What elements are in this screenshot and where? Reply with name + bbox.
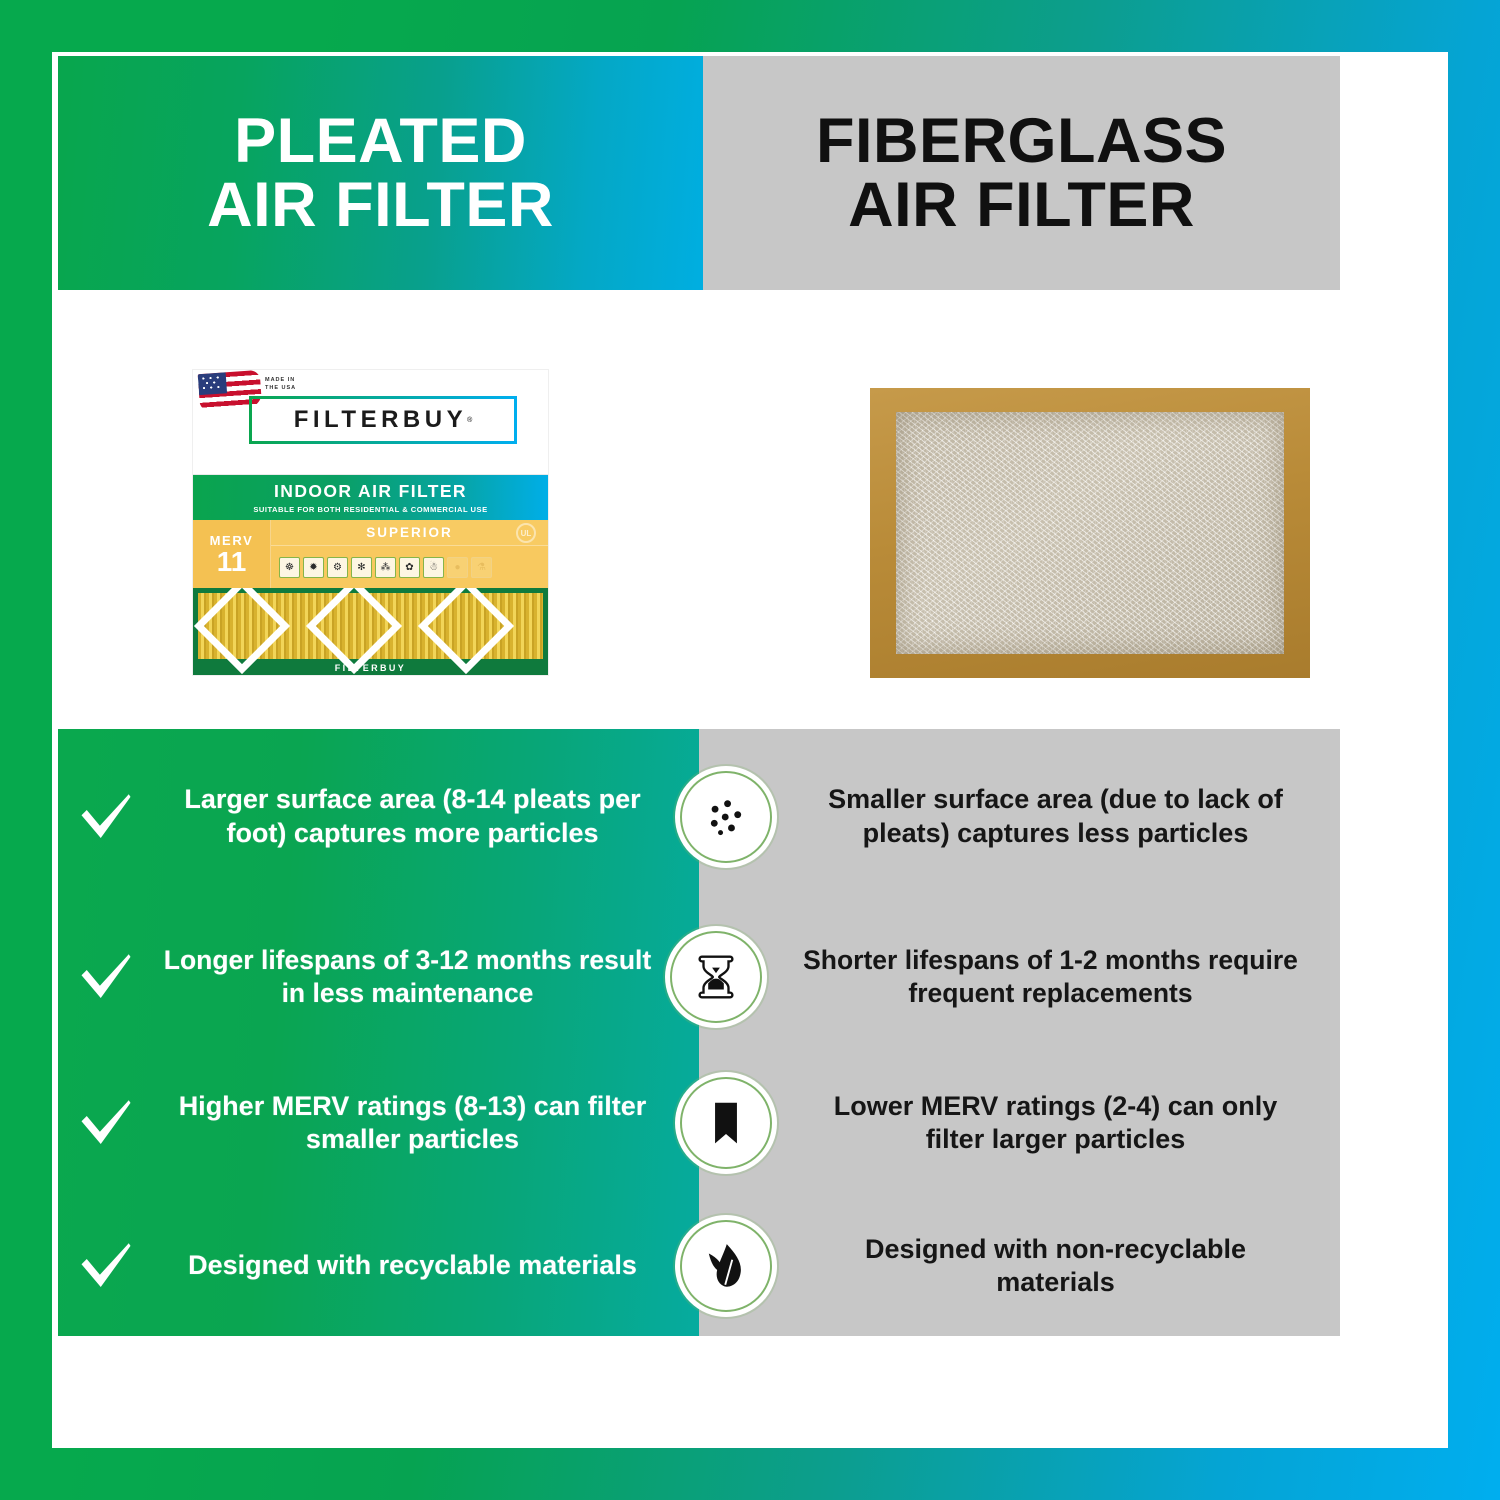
leaf-icon xyxy=(680,1220,772,1312)
odor-icon: ⚗ xyxy=(471,557,492,578)
merv-badge: MERV 11 xyxy=(193,520,271,588)
merv-value: 11 xyxy=(217,548,247,576)
comparison-row: Designed with recyclable materialsDesign… xyxy=(58,1196,1340,1336)
package-merv-panel: MERV 11 SUPERIOR UL ☸✹⚙✻⁂✿☃●⚗ xyxy=(193,520,548,588)
header-fiberglass-line1: FIBERGLASS xyxy=(816,106,1227,176)
outer-gradient-frame: PLEATED AIR FILTER FIBERGLASS AIR FILTER… xyxy=(0,0,1500,1500)
insect-icon: ✹ xyxy=(303,557,324,578)
header-pleated-title: PLEATED AIR FILTER xyxy=(207,109,554,238)
made-in-usa-label: MADE IN THE USA xyxy=(265,376,296,393)
grade-row: SUPERIOR UL xyxy=(271,520,548,546)
header-pleated: PLEATED AIR FILTER xyxy=(58,56,703,290)
comparison-section: Larger surface area (8-14 pleats per foo… xyxy=(58,729,1340,1336)
diamond-2 xyxy=(306,588,402,674)
mold-icon: ✻ xyxy=(351,557,372,578)
pleated-benefit-text: Larger surface area (8-14 pleats per foo… xyxy=(154,783,671,850)
pleated-media-illustration: FILTERBUY xyxy=(193,588,548,675)
comparison-row: Higher MERV ratings (8-13) can filter sm… xyxy=(58,1050,1340,1196)
diamond-1 xyxy=(194,588,290,674)
row-icon-container xyxy=(661,931,771,1023)
product-images-area: MADE IN THE USA FILTERBUY ® INDOOR AIR F… xyxy=(58,300,1340,715)
diamond-3 xyxy=(418,588,514,674)
check-glyph xyxy=(78,1095,134,1151)
header-fiberglass-title: FIBERGLASS AIR FILTER xyxy=(816,109,1227,238)
package-top-panel: MADE IN THE USA FILTERBUY ® xyxy=(193,370,548,475)
pleated-filter-package-image: MADE IN THE USA FILTERBUY ® INDOOR AIR F… xyxy=(193,370,548,675)
pleated-benefit-text: Designed with recyclable materials xyxy=(154,1249,671,1282)
comparison-row: Larger surface area (8-14 pleats per foo… xyxy=(58,729,1340,904)
fiberglass-drawback-text: Shorter lifespans of 1-2 months require … xyxy=(771,944,1340,1010)
header-pleated-line1: PLEATED xyxy=(234,106,527,176)
fiberglass-filter-image xyxy=(870,388,1310,678)
pleated-benefit-text: Longer lifespans of 3-12 months result i… xyxy=(154,944,661,1010)
checkmark-icon xyxy=(58,1095,154,1151)
filtration-icon-strip: ☸✹⚙✻⁂✿☃●⚗ xyxy=(271,546,548,588)
made-in-line1: MADE IN xyxy=(265,376,296,384)
row-icon-container xyxy=(671,771,781,863)
header-fiberglass-line2: AIR FILTER xyxy=(816,173,1227,237)
diamond-support-grid xyxy=(198,593,543,659)
pollen-icon: ⚙ xyxy=(327,557,348,578)
fiberglass-drawback-text: Designed with non-recyclable materials xyxy=(781,1233,1340,1300)
package-band-title: INDOOR AIR FILTER xyxy=(274,481,467,502)
header-pleated-line2: AIR FILTER xyxy=(207,173,554,237)
fiberglass-mesh-texture xyxy=(896,412,1284,654)
checkmark-icon xyxy=(58,789,154,845)
package-band-subtitle: SUITABLE FOR BOTH RESIDENTIAL & COMMERCI… xyxy=(253,505,487,514)
row-icon-container xyxy=(671,1077,781,1169)
check-glyph xyxy=(78,1238,134,1294)
checkmark-icon xyxy=(58,949,154,1005)
made-in-line2: THE USA xyxy=(265,384,296,392)
fiberglass-drawback-text: Smaller surface area (due to lack of ple… xyxy=(781,783,1340,850)
brand-logo-box: FILTERBUY ® xyxy=(249,396,517,444)
package-footer-brand: FILTERBUY xyxy=(193,663,548,673)
pet-dander-icon: ✿ xyxy=(399,557,420,578)
grade-label: SUPERIOR xyxy=(366,525,453,540)
package-band: INDOOR AIR FILTER SUITABLE FOR BOTH RESI… xyxy=(193,475,548,520)
ul-certification-icon: UL xyxy=(516,523,536,543)
hourglass-icon xyxy=(670,931,762,1023)
fiberglass-drawback-text: Lower MERV ratings (2-4) can only filter… xyxy=(781,1090,1340,1157)
header-fiberglass: FIBERGLASS AIR FILTER xyxy=(703,56,1340,290)
bookmark-icon xyxy=(680,1077,772,1169)
merv-details: SUPERIOR UL ☸✹⚙✻⁂✿☃●⚗ xyxy=(271,520,548,588)
check-glyph xyxy=(78,789,134,845)
particles-icon xyxy=(680,771,772,863)
brand-name: FILTERBUY xyxy=(294,406,467,434)
brand-trademark: ® xyxy=(467,417,472,424)
smoke-icon: ☃ xyxy=(423,557,444,578)
pleated-benefit-text: Higher MERV ratings (8-13) can filter sm… xyxy=(154,1090,671,1157)
bacteria-icon: ⁂ xyxy=(375,557,396,578)
comparison-row: Longer lifespans of 3-12 months result i… xyxy=(58,904,1340,1050)
virus-icon: ● xyxy=(447,557,468,578)
checkmark-icon xyxy=(58,1238,154,1294)
flag-canton xyxy=(198,372,227,395)
row-icon-container xyxy=(671,1220,781,1312)
dust-icon: ☸ xyxy=(279,557,300,578)
check-glyph xyxy=(78,949,134,1005)
